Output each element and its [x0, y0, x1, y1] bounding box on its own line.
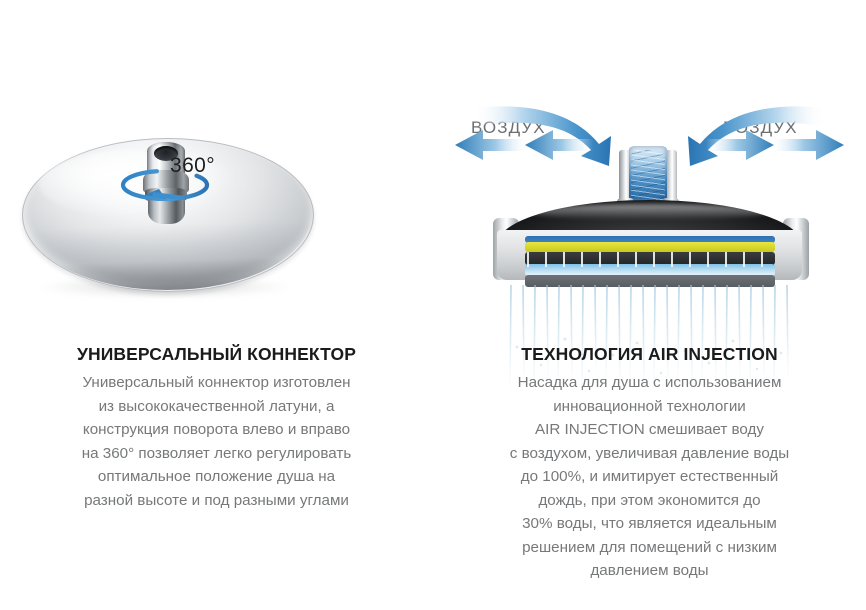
right-feature-column: ВОЗДУХ ВОЗДУХ: [433, 0, 866, 610]
internal-band-yellow: [525, 242, 775, 252]
right-body-text: Насадка для душа с использованием иннова…: [433, 371, 866, 583]
shower-head-cutaway: [489, 140, 809, 340]
rotation-degree-label: 360°: [170, 154, 215, 178]
left-body-text: Универсальный коннектор изготовлен из вы…: [0, 371, 433, 512]
shower-disc-illustration: 360°: [22, 138, 312, 298]
left-heading: УНИВЕРСАЛЬНЫЙ КОННЕКТОР: [0, 343, 433, 365]
right-heading: ТЕХНОЛОГИЯ AIR INJECTION: [433, 343, 866, 365]
infographic-page: 360° УНИВЕРСАЛЬНЫЙ КОННЕКТОР Универсальн…: [0, 0, 866, 610]
air-injection-illustration: ВОЗДУХ ВОЗДУХ: [433, 40, 866, 350]
left-caption-block: УНИВЕРСАЛЬНЫЙ КОННЕКТОР Универсальный ко…: [0, 343, 433, 512]
right-caption-block: ТЕХНОЛОГИЯ AIR INJECTION Насадка для душ…: [433, 343, 866, 583]
head-dome-highlight: [529, 204, 769, 220]
nozzle-row: [527, 252, 773, 267]
air-injection-figure: ВОЗДУХ ВОЗДУХ: [433, 40, 866, 335]
left-feature-column: 360° УНИВЕРСАЛЬНЫЙ КОННЕКТОР Универсальн…: [0, 0, 433, 610]
universal-connector-figure: 360°: [0, 40, 433, 335]
